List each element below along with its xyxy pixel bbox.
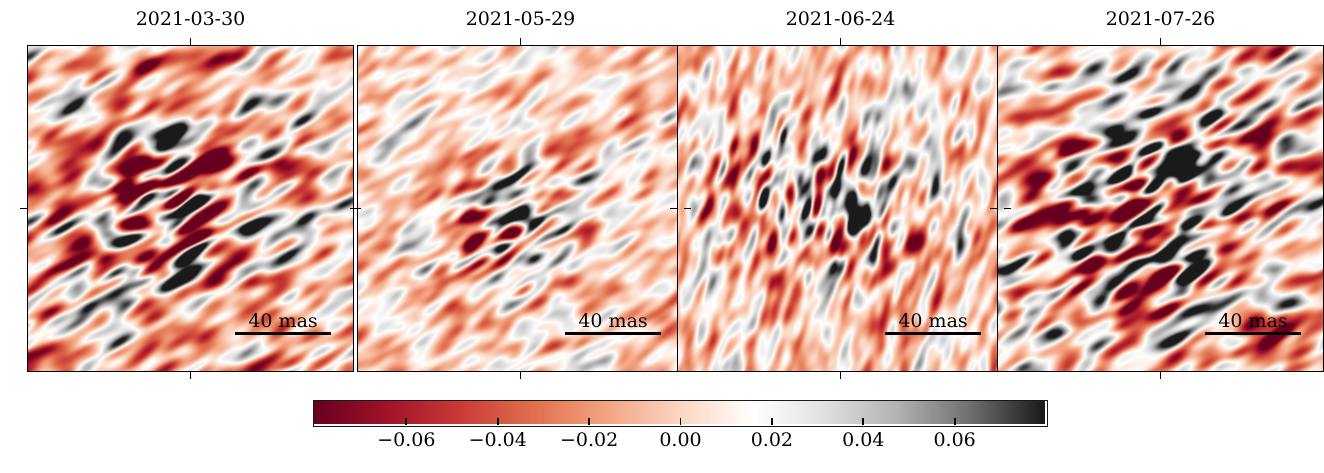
- scalebar-line-2: [885, 332, 981, 335]
- scalebar-3: 40 mas: [1205, 312, 1301, 335]
- panel-title-3: 2021-07-26: [997, 10, 1324, 29]
- scalebar-label-3: 40 mas: [1205, 312, 1301, 332]
- colorbar-tick-4: [771, 418, 773, 425]
- colorbar-tick-1: [497, 418, 499, 425]
- colorbar-tick-2: [588, 418, 590, 425]
- colorbar-tick-label-5: 0.04: [818, 431, 908, 450]
- image-panel-0: 40 mas: [27, 45, 354, 372]
- colorbar-tick-label-4: 0.02: [727, 431, 817, 450]
- colorbar-tick-0: [405, 418, 407, 425]
- panel-3-tick-top: [1160, 38, 1162, 45]
- panel-title-1: 2021-05-29: [357, 10, 684, 29]
- colorbar-tick-6: [954, 418, 956, 425]
- colorbar-tick-label-3: 0.00: [636, 431, 726, 450]
- panel-3-tick-bottom: [1160, 372, 1162, 379]
- colorbar-tick-label-2: −0.02: [544, 431, 634, 450]
- panel-2-tick-right: [1004, 208, 1011, 210]
- panel-0-tick-top: [190, 38, 192, 45]
- scalebar-line-0: [235, 332, 331, 335]
- panel-title-2: 2021-06-24: [677, 10, 1004, 29]
- scalebar-1: 40 mas: [565, 312, 661, 335]
- panel-0-tick-left: [20, 208, 27, 210]
- panel-title-0: 2021-03-30: [27, 10, 354, 29]
- panel-2-tick-left: [670, 208, 677, 210]
- colorbar-tick-5: [862, 418, 864, 425]
- colorbar-tick-3: [680, 418, 682, 425]
- panel-1-tick-top: [520, 38, 522, 45]
- panel-1-tick-right: [684, 208, 691, 210]
- scalebar-line-3: [1205, 332, 1301, 335]
- image-panel-2: 40 mas: [677, 45, 1004, 372]
- scalebar-2: 40 mas: [885, 312, 981, 335]
- image-panel-1: 40 mas: [357, 45, 684, 372]
- panel-0-tick-bottom: [190, 372, 192, 379]
- colorbar-tick-label-6: 0.06: [910, 431, 1000, 450]
- panel-3-tick-left: [990, 208, 997, 210]
- image-panel-3: 40 mas: [997, 45, 1324, 372]
- scalebar-label-2: 40 mas: [885, 312, 981, 332]
- scalebar-label-0: 40 mas: [235, 312, 331, 332]
- colorbar-tick-label-1: −0.04: [453, 431, 543, 450]
- colorbar-tick-label-0: −0.06: [361, 431, 451, 450]
- panel-2-tick-top: [840, 38, 842, 45]
- figure-canvas: 2021-03-30 2021-05-29 2021-06-24 2021-07…: [0, 0, 1324, 473]
- scalebar-line-1: [565, 332, 661, 335]
- panel-2-tick-bottom: [840, 372, 842, 379]
- panel-1-tick-bottom: [520, 372, 522, 379]
- scalebar-0: 40 mas: [235, 312, 331, 335]
- scalebar-label-1: 40 mas: [565, 312, 661, 332]
- panel-1-tick-left: [350, 208, 357, 210]
